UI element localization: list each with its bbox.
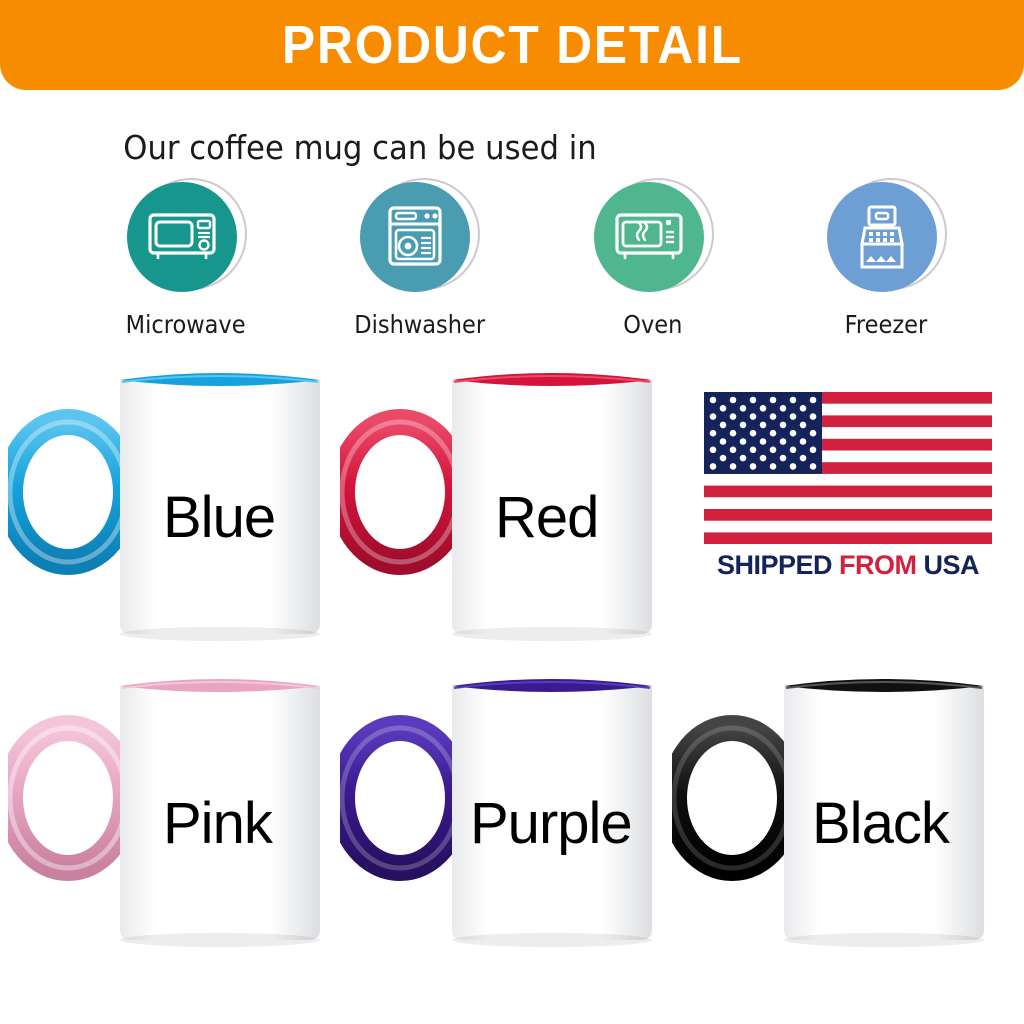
freezer-icon (853, 204, 911, 270)
oven-circle-wrap (594, 182, 712, 300)
feature-freezer: Freezer (796, 182, 976, 339)
shipped-from-usa-badge: SHIPPED FROM USA (704, 392, 992, 581)
mug-label: Pink (163, 790, 272, 857)
usa-text-shipped: SHIPPED (717, 550, 839, 580)
mug-label: Purple (470, 790, 632, 857)
microwave-icon (147, 211, 217, 263)
feature-label: Oven (623, 310, 682, 339)
header-banner: PRODUCT DETAIL (0, 0, 1024, 90)
oven-circle (594, 182, 704, 292)
usa-text-usa: USA (924, 550, 980, 580)
mug-blue[interactable]: Blue (8, 362, 338, 642)
feature-label: Freezer (845, 310, 928, 339)
mug-pink[interactable]: Pink (8, 668, 338, 948)
page-title: PRODUCT DETAIL (282, 18, 743, 72)
microwave-circle (127, 182, 237, 292)
mug-label: Blue (163, 484, 275, 551)
feature-label: Microwave (126, 310, 246, 339)
feature-microwave: Microwave (96, 182, 276, 339)
subtitle-text: Our coffee mug can be used in (25, 128, 695, 167)
feature-label: Dishwasher (354, 310, 485, 339)
dishwasher-circle-wrap (360, 182, 478, 300)
mug-label: Red (495, 484, 598, 551)
dishwasher-icon (386, 205, 444, 269)
mug-black[interactable]: Black (672, 668, 1002, 948)
mug-label: Black (812, 790, 949, 857)
oven-icon (614, 211, 684, 263)
usa-flag-icon (704, 392, 992, 544)
feature-dishwasher: Dishwasher (329, 182, 509, 339)
mug-row-2: Pink Purple (0, 668, 1024, 958)
freezer-circle-wrap (827, 182, 945, 300)
usa-text-from: FROM (839, 550, 924, 580)
mug-purple[interactable]: Purple (340, 668, 670, 948)
shipped-from-usa-text: SHIPPED FROM USA (704, 550, 992, 581)
microwave-circle-wrap (127, 182, 245, 300)
feature-icon-row: Microwave (96, 182, 976, 339)
feature-oven: Oven (563, 182, 743, 339)
dishwasher-circle (360, 182, 470, 292)
freezer-circle (827, 182, 937, 292)
mug-red[interactable]: Red (340, 362, 670, 642)
